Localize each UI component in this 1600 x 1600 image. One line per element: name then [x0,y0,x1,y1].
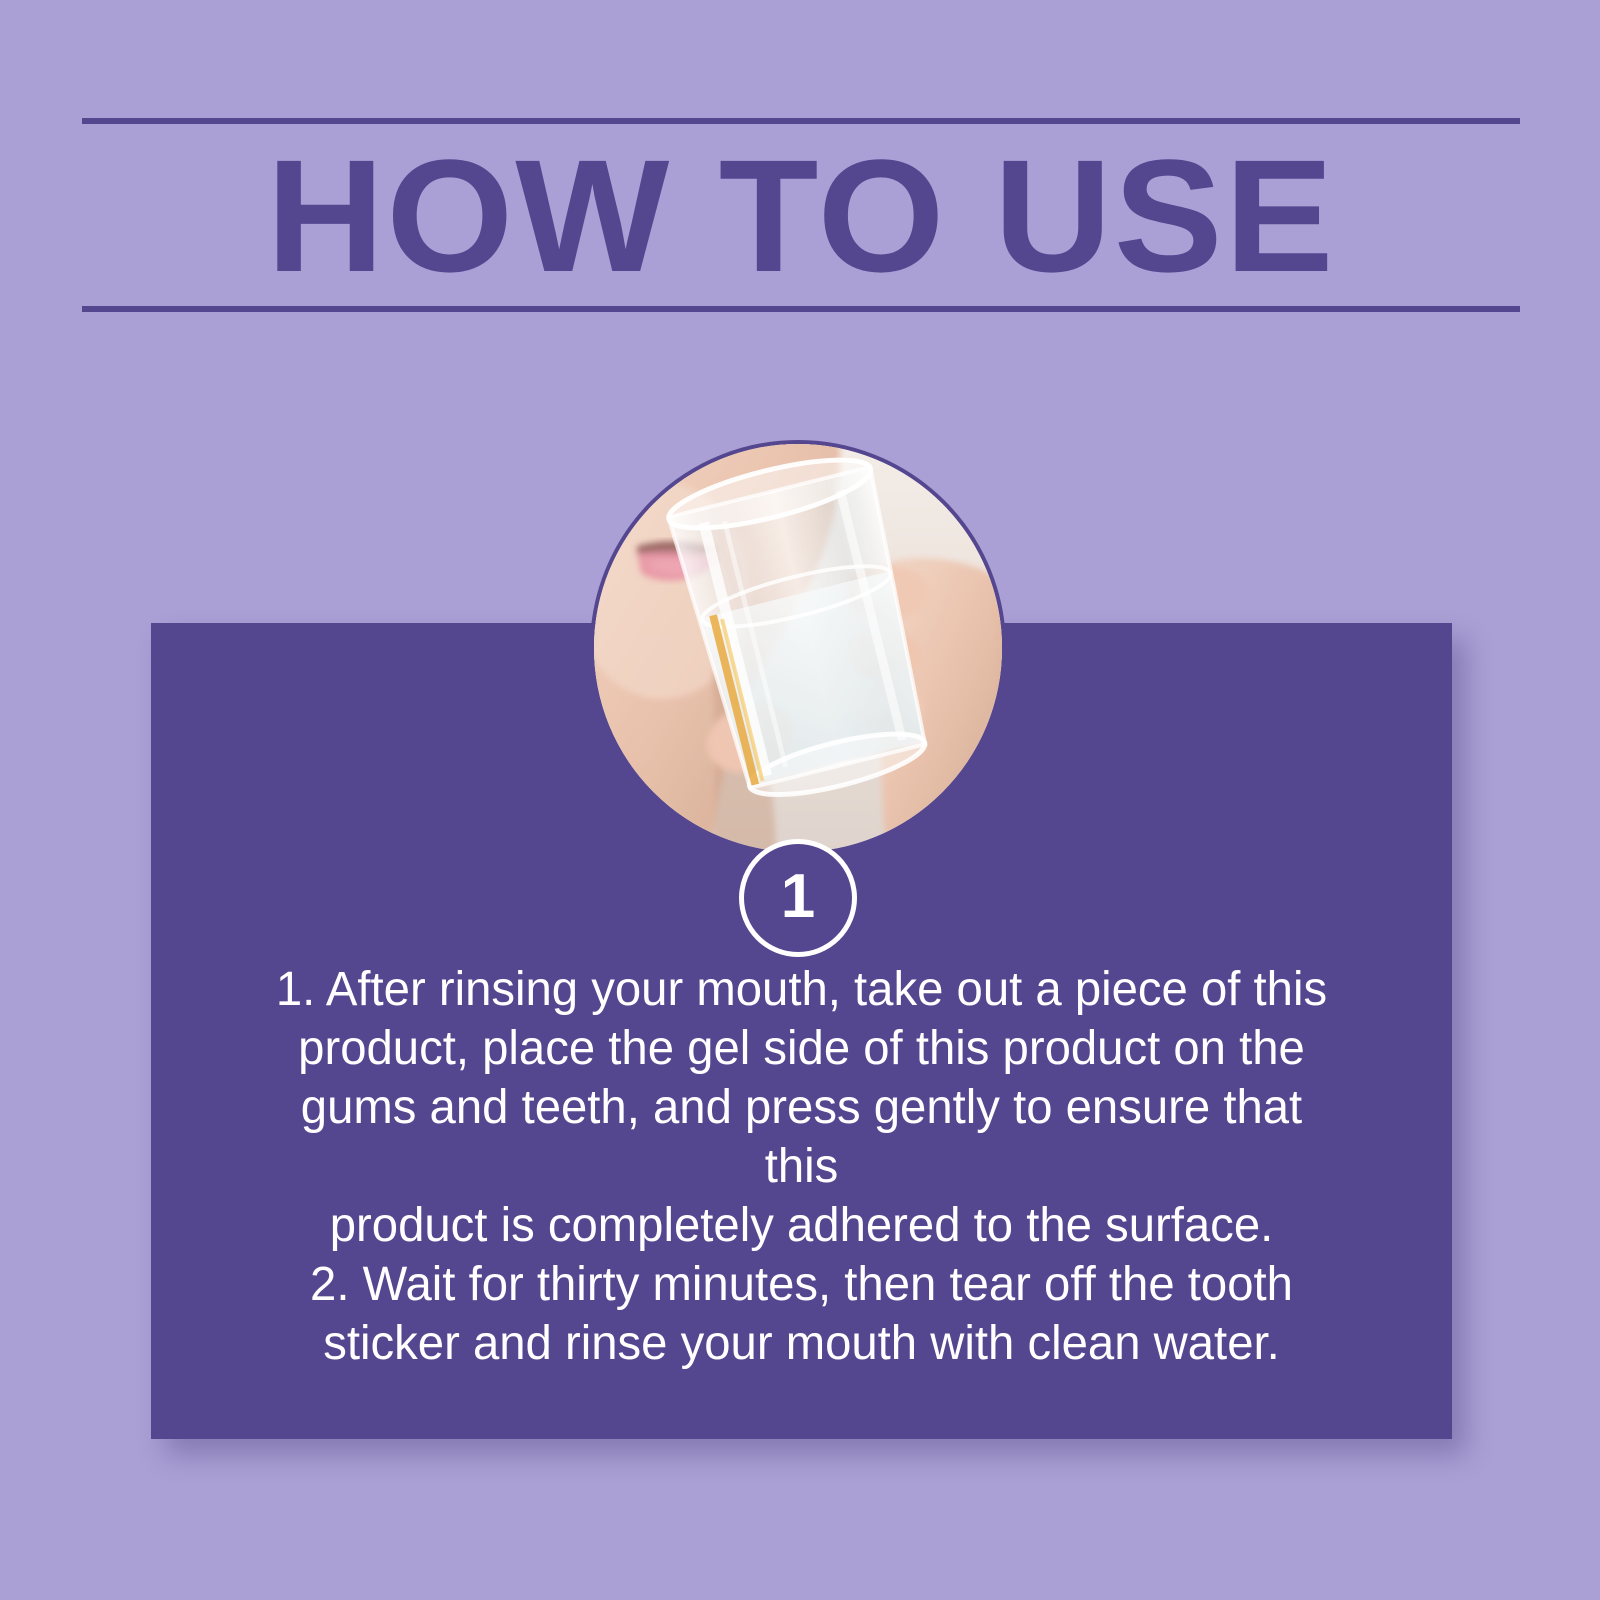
header: HOW TO USE [82,118,1520,312]
instructions-text: 1. After rinsing your mouth, take out a … [258,960,1344,1373]
page-title: HOW TO USE [68,132,1535,300]
title-rule-top [82,118,1520,124]
instruction-line-3: gums and teeth, and press gently to ensu… [258,1078,1344,1196]
drinking-water-photo [590,440,1006,856]
instruction-line-6: sticker and rinse your mouth with clean … [258,1314,1344,1373]
instruction-line-4: product is completely adhered to the sur… [258,1196,1344,1255]
instruction-line-5: 2. Wait for thirty minutes, then tear of… [258,1255,1344,1314]
title-rule-bottom [82,306,1520,312]
instruction-line-2: product, place the gel side of this prod… [258,1019,1344,1078]
step-number-label: 1 [781,866,815,928]
step-number-badge: 1 [739,839,857,957]
step-illustration: 1 [590,440,1006,856]
instruction-line-1: 1. After rinsing your mouth, take out a … [258,960,1344,1019]
